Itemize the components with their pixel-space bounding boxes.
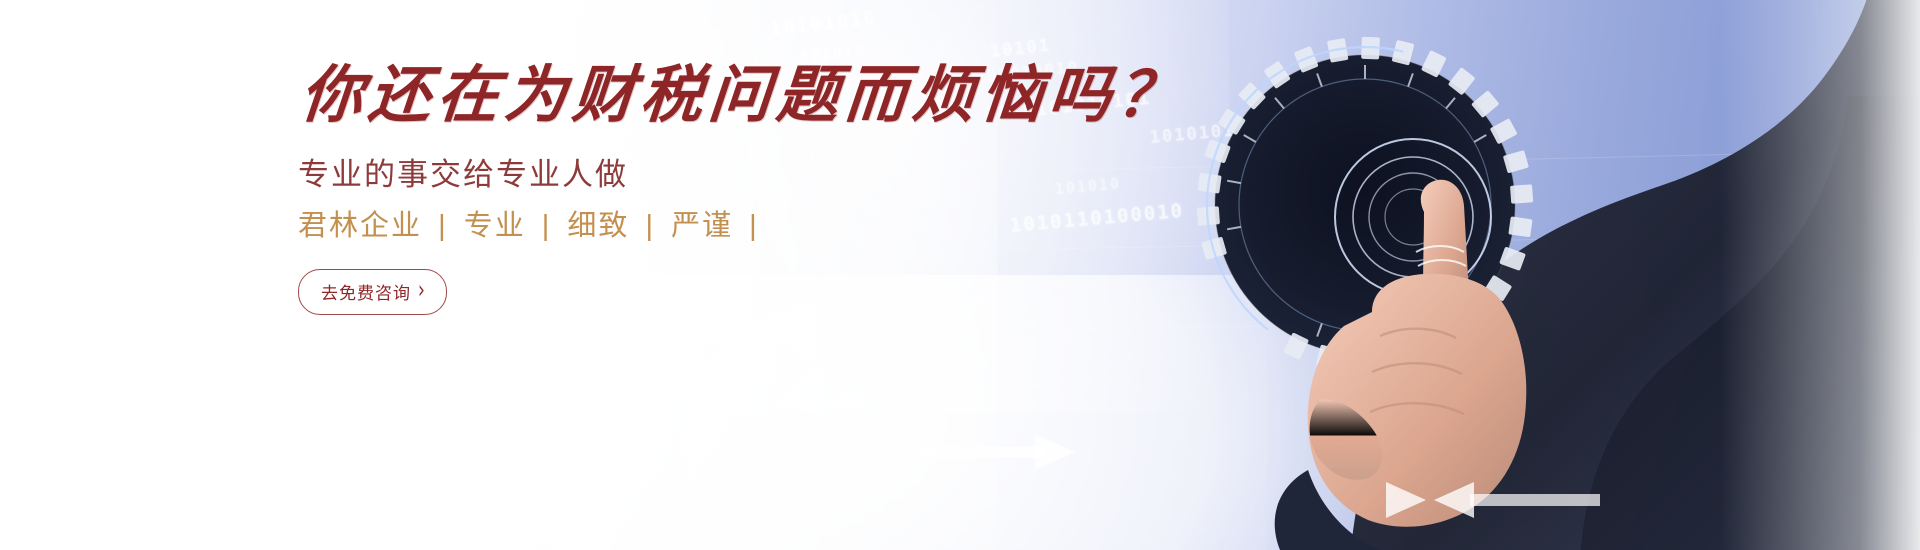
banner-tagline: 君林企业 | 专业 | 细致 | 严谨 | xyxy=(298,212,1058,241)
banner-content: 你还在为财税问题而烦恼吗？ 专业的事交给专业人做 君林企业 | 专业 | 细致 … xyxy=(298,62,1058,315)
free-consultation-button[interactable]: 去免费咨询 › xyxy=(298,269,447,315)
cta-label: 去免费咨询 xyxy=(321,279,411,304)
binary-string: 10101010 xyxy=(769,7,878,40)
tagline-separator: | xyxy=(432,210,454,242)
page-title: 你还在为财税问题而烦恼吗？ xyxy=(298,62,1064,127)
tagline-separator: | xyxy=(639,210,661,242)
tagline-item-professional: 专业 xyxy=(464,210,526,242)
banner-subtitle: 专业的事交给专业人做 xyxy=(298,159,1058,190)
tagline-item-company: 君林企业 xyxy=(298,210,422,242)
tagline-item-rigorous: 严谨 xyxy=(671,210,733,242)
decorative-arrow-flow xyxy=(0,330,1920,550)
tagline-separator: | xyxy=(536,210,558,242)
tagline-separator-trailing: | xyxy=(743,210,765,242)
hero-banner: 10101010 101010 10101 101010010 10101010… xyxy=(0,0,1920,550)
chevron-right-icon: › xyxy=(418,279,426,304)
tagline-item-meticulous: 细致 xyxy=(567,210,629,242)
